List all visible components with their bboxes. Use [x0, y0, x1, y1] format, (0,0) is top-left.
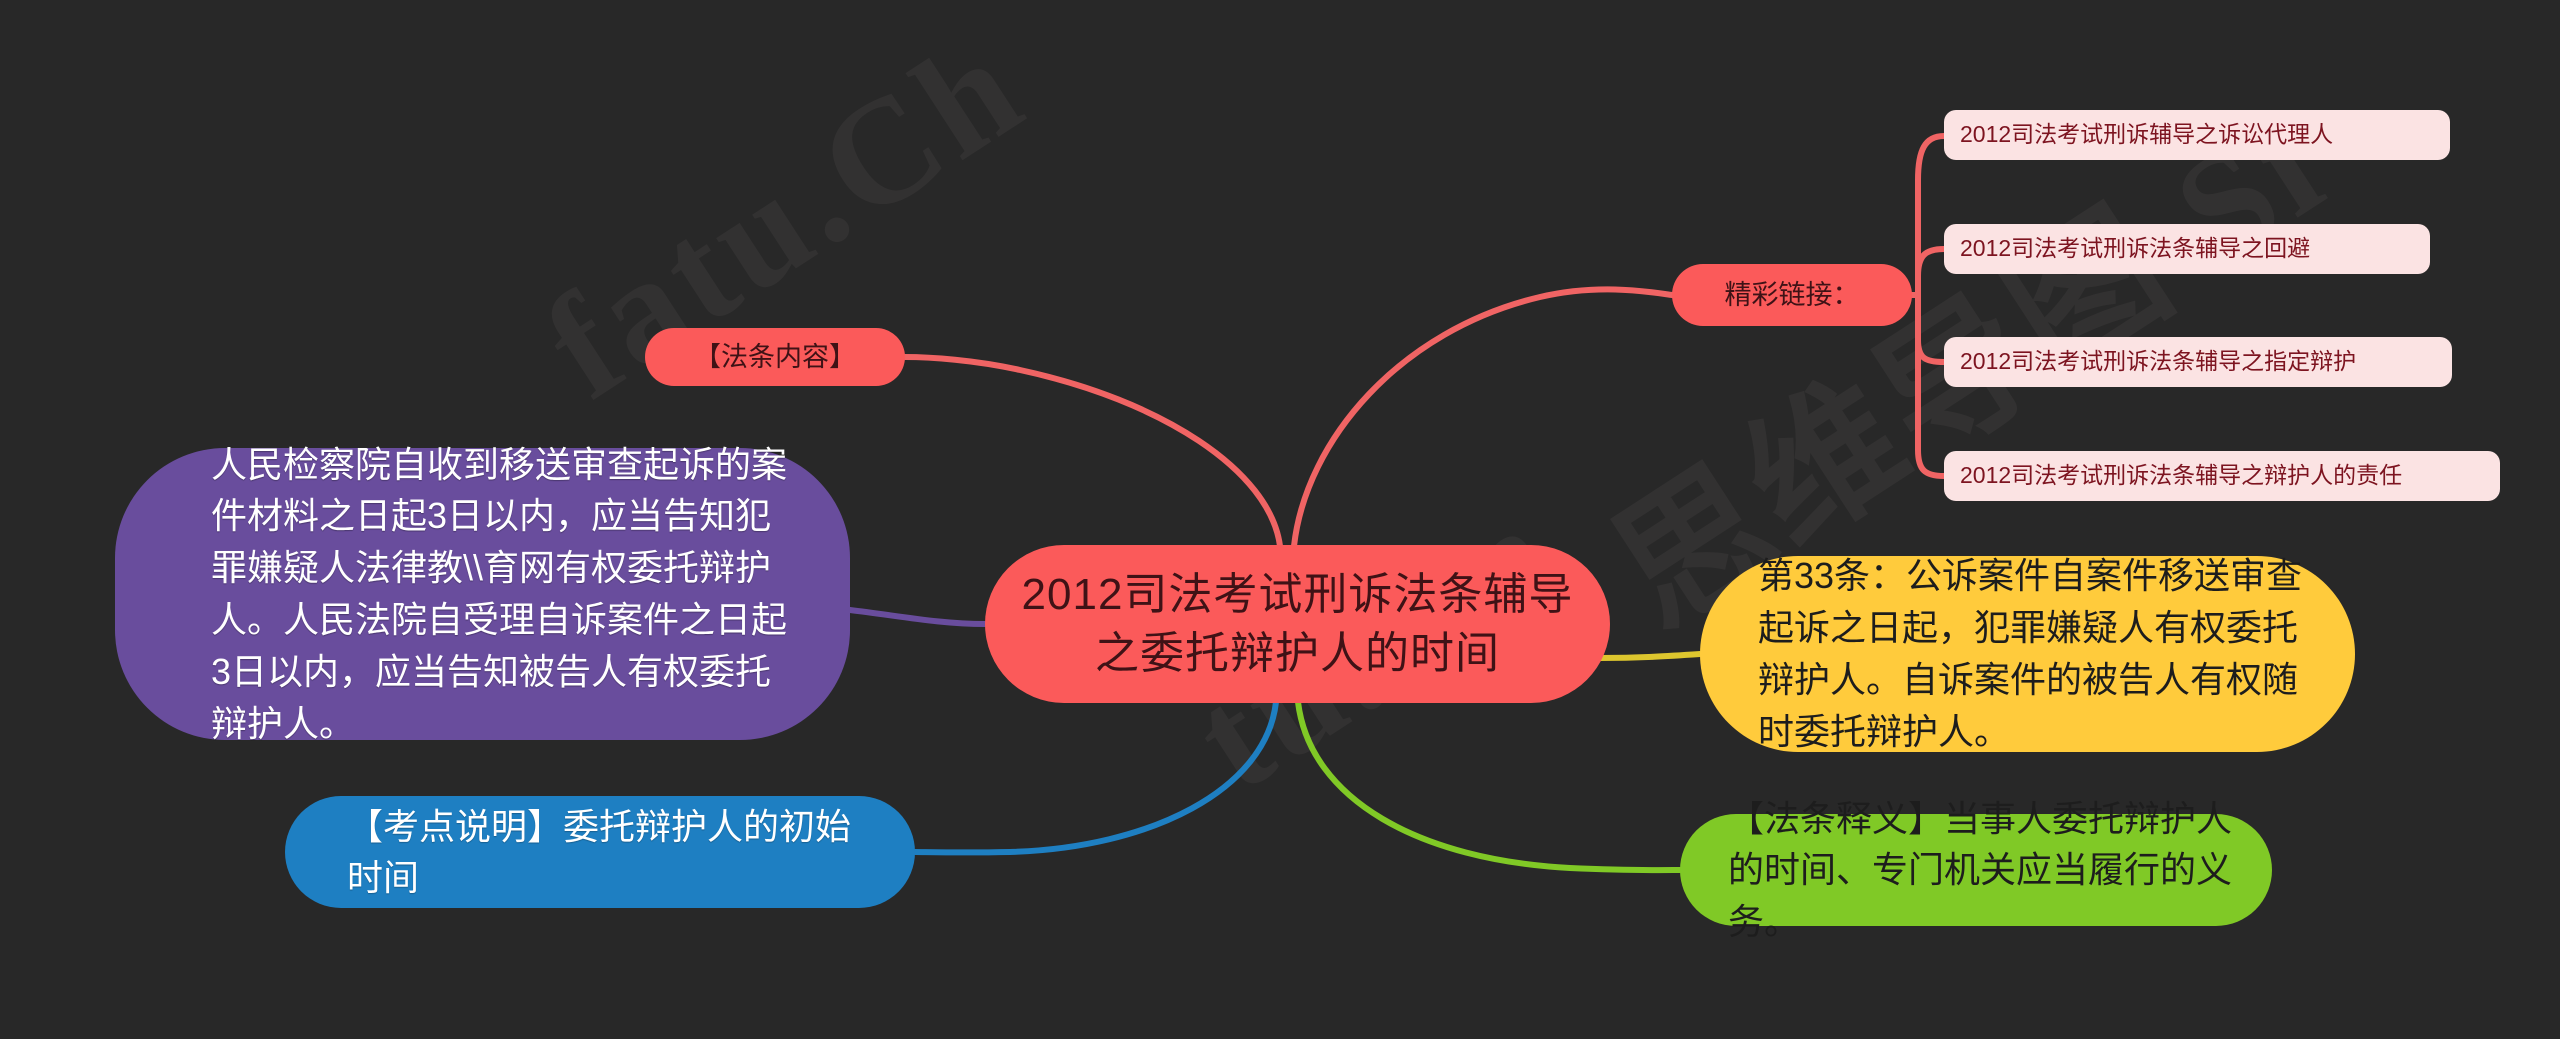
root-node[interactable]: 2012司法考试刑诉法条辅导之委托辩护人的时间 — [985, 545, 1610, 703]
node-kaodian-shuoming-label: 【考点说明】委托辩护人的初始时间 — [285, 801, 915, 903]
connector-root-to-fatiao-neirong — [905, 357, 1280, 546]
connector-root-to-jingcai-lianjie — [1294, 289, 1672, 546]
node-link-2-label: 2012司法考试刑诉法条辅导之回避 — [1960, 235, 2414, 263]
connector-root-to-kaodian-shuoming — [915, 702, 1276, 852]
node-link-4-label: 2012司法考试刑诉法条辅导之辩护人的责任 — [1960, 462, 2484, 490]
connector-jingcai-to-link-1 — [1918, 136, 1944, 295]
node-link-1-label: 2012司法考试刑诉辅导之诉讼代理人 — [1960, 121, 2434, 149]
node-fatiao-neirong[interactable]: 【法条内容】 — [645, 328, 905, 386]
node-link-2[interactable]: 2012司法考试刑诉法条辅导之回避 — [1944, 224, 2430, 274]
node-fatiao-shiyi-label: 【法条释义】当事人委托辩护人的时间、专门机关应当履行的义务。 — [1680, 793, 2272, 946]
node-link-4[interactable]: 2012司法考试刑诉法条辅导之辩护人的责任 — [1944, 451, 2500, 501]
node-fatiao-neirong-label: 【法条内容】 — [645, 341, 905, 373]
node-link-1[interactable]: 2012司法考试刑诉辅导之诉讼代理人 — [1944, 110, 2450, 160]
node-jingcai-lianjie-label: 精彩链接： — [1672, 279, 1912, 311]
node-fatiao-shiyi[interactable]: 【法条释义】当事人委托辩护人的时间、专门机关应当履行的义务。 — [1680, 814, 2272, 926]
root-node-label: 2012司法考试刑诉法条辅导之委托辩护人的时间 — [985, 565, 1610, 684]
mindmap-canvas: fatu.Ch 思维导图 Si tu.Cn 2012司法考试刑诉法条辅导之委托辩… — [0, 0, 2560, 1039]
connector-jingcai-to-link-2 — [1918, 249, 1944, 295]
connector-root-to-di33tiao — [1600, 654, 1700, 658]
connector-root-to-purple — [850, 610, 985, 624]
node-fatiao-neirong-detail[interactable]: 人民检察院自收到移送审查起诉的案件材料之日起3日以内，应当告知犯罪嫌疑人法律教\… — [115, 448, 850, 740]
node-fatiao-neirong-detail-label: 人民检察院自收到移送审查起诉的案件材料之日起3日以内，应当告知犯罪嫌疑人法律教\… — [115, 439, 850, 750]
node-di33tiao[interactable]: 第33条：公诉案件自案件移送审查起诉之日起，犯罪嫌疑人有权委托辩护人。自诉案件的… — [1700, 556, 2355, 752]
node-kaodian-shuoming[interactable]: 【考点说明】委托辩护人的初始时间 — [285, 796, 915, 908]
connector-jingcai-to-link-4 — [1918, 295, 1944, 476]
node-link-3[interactable]: 2012司法考试刑诉法条辅导之指定辩护 — [1944, 337, 2452, 387]
node-di33tiao-label: 第33条：公诉案件自案件移送审查起诉之日起，犯罪嫌疑人有权委托辩护人。自诉案件的… — [1700, 550, 2355, 757]
node-link-3-label: 2012司法考试刑诉法条辅导之指定辩护 — [1960, 348, 2436, 376]
node-jingcai-lianjie[interactable]: 精彩链接： — [1672, 264, 1912, 326]
connector-jingcai-to-link-3 — [1918, 295, 1944, 362]
connector-root-to-fatiao-shiyi — [1298, 702, 1680, 870]
